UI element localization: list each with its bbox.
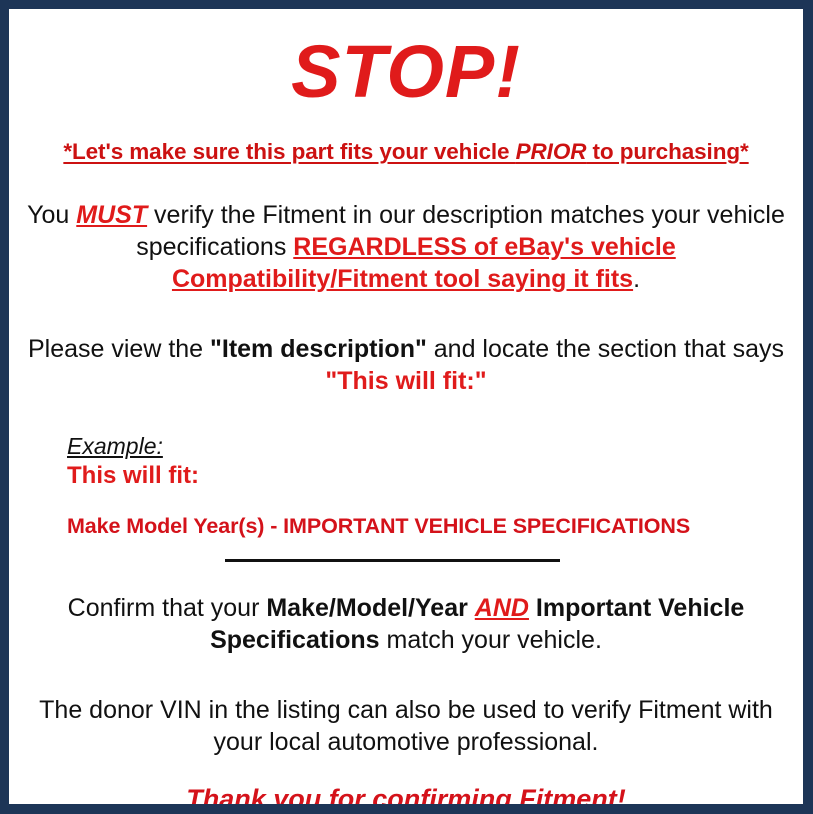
must-text-1: You [27,201,76,229]
tagline-before: *Let's make sure this part fits your veh… [63,139,515,164]
divider-wrap [21,559,791,562]
tagline: *Let's make sure this part fits your veh… [21,139,791,165]
example-label: Example: [67,433,163,460]
view-paragraph: Please view the "Item description" and l… [21,333,791,397]
thanks-line: Thank you for confirming Fitment! [21,784,791,804]
tagline-after: to purchasing* [586,139,748,164]
tagline-emphasis: PRIOR [516,139,587,164]
fitment-notice-frame: STOP! *Let's make sure this part fits yo… [0,0,813,814]
view-text-1: Please view the [28,335,210,363]
example-block: Example: This will fit: Make Model Year(… [21,433,791,539]
fitment-notice-body: STOP! *Let's make sure this part fits yo… [9,9,803,804]
this-will-fit-quote: "This will fit:" [325,367,486,395]
must-text-3: . [633,265,640,293]
must-emphasis: MUST [76,201,147,229]
vin-paragraph: The donor VIN in the listing can also be… [21,694,791,758]
and-emphasis: AND [475,594,529,622]
must-paragraph: You MUST verify the Fitment in our descr… [21,199,791,295]
view-text-2: and locate the section that says [427,335,784,363]
make-model-year-emphasis: Make/Model/Year [266,594,467,622]
stop-title: STOP! [21,23,791,109]
confirm-text-2: match your vehicle. [380,626,602,654]
section-divider [225,559,560,562]
example-spec-line: Make Model Year(s) - IMPORTANT VEHICLE S… [67,514,791,539]
confirm-text-1: Confirm that your [68,594,267,622]
item-description-emphasis: "Item description" [210,335,427,363]
confirm-paragraph: Confirm that your Make/Model/Year AND Im… [21,592,791,656]
example-fit-heading: This will fit: [67,462,791,490]
